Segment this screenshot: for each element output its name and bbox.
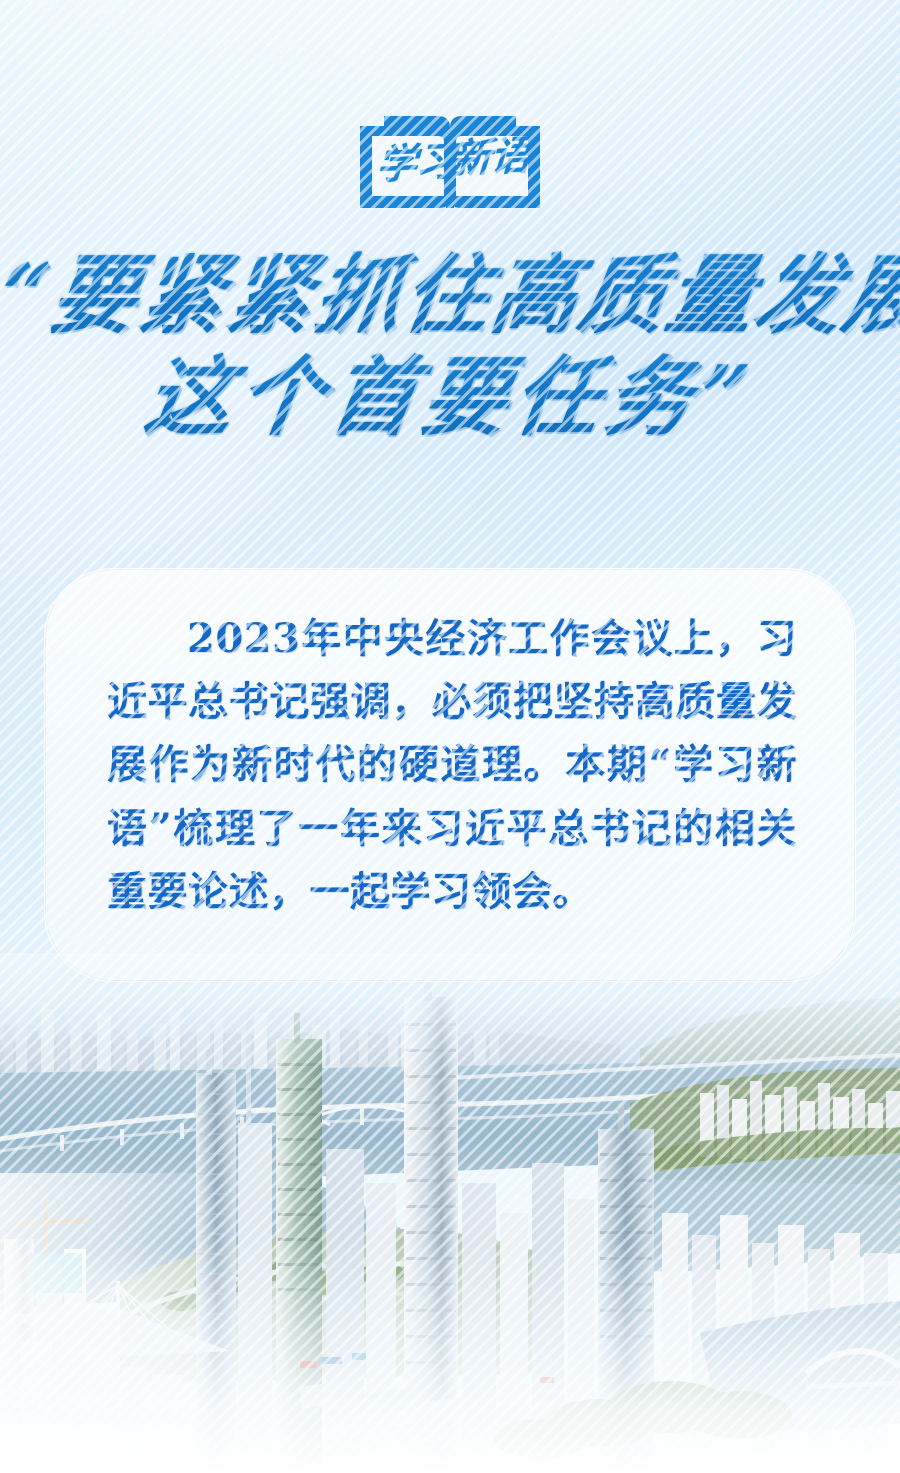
summary-card: 2023年中央经济工作会议上，习近平总书记强调，必须把坚持高质量发展作为新时代的… [44,568,856,982]
headline-line-2: 这个首要任务” [0,350,900,446]
headline: “要紧紧抓住高质量发展 这个首要任务” [0,248,900,447]
brand-logo: 学习 新语 [0,96,900,228]
logo-line-1: 学习 [376,143,456,184]
poster-root: 学习 新语 “要紧紧抓住高质量发展 这个首要任务” 2023年中央经济工作会议上… [0,0,900,1473]
logo-line-2: 新语 [450,138,530,179]
logo-wordmark: 学习 新语 [346,93,554,231]
headline-line-1: “要紧紧抓住高质量发展 [0,248,900,344]
summary-paragraph: 2023年中央经济工作会议上，习近平总书记强调，必须把坚持高质量发展作为新时代的… [107,607,797,923]
cityscape-photo [0,953,900,1473]
photo-bottom-fade [0,1243,900,1473]
